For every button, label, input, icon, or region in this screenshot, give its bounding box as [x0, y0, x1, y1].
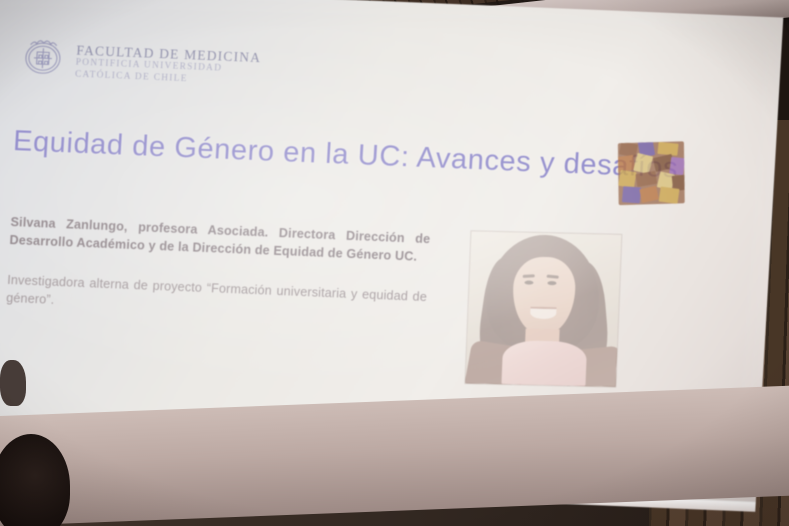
institution-logo-block: FACULTAD DE MEDICINA PONTIFICIA UNIVERSI… — [19, 28, 263, 88]
uc-crest-icon — [19, 28, 68, 80]
audience-silhouette-secondary — [0, 360, 26, 406]
speaker-portrait-photo — [465, 231, 621, 386]
mosaic-collage-image — [618, 141, 685, 205]
speaker-bio-paragraph: Silvana Zanlungo, profesora Asociada. Di… — [9, 214, 431, 267]
slide-body: Silvana Zanlungo, profesora Asociada. Di… — [4, 214, 430, 347]
screenshot-root: FACULTAD DE MEDICINA PONTIFICIA UNIVERSI… — [0, 0, 789, 526]
slide-title: Equidad de Género en la UC: Avances y de… — [12, 120, 714, 191]
project-role-paragraph: Investigadora alterna de proyecto “Forma… — [6, 272, 428, 325]
